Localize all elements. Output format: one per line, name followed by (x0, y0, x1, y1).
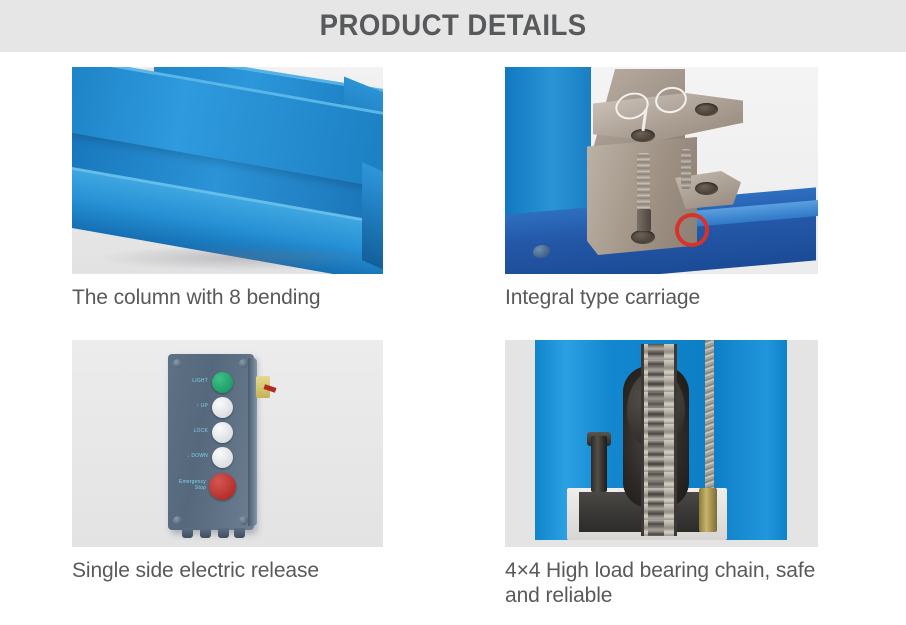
housing-screw-top-left (173, 359, 182, 368)
up-button[interactable] (212, 397, 233, 418)
anchor-bolt-stud (591, 436, 607, 492)
photo-left-margin (505, 340, 535, 547)
product-card-integral-type-carriage[interactable]: Integral type carriage (505, 67, 818, 310)
label-down: ↓ DOWN (172, 453, 208, 459)
housing-screw-bottom-left (173, 516, 182, 525)
page-title: PRODUCT DETAILS (319, 9, 586, 43)
photo-right-margin (788, 340, 818, 547)
photo-column-8-bending (72, 67, 383, 274)
photo-high-load-bearing-chain (505, 340, 818, 547)
caption-column-8-bending: The column with 8 bending (72, 285, 383, 310)
cable-gland-4 (234, 528, 245, 538)
steel-lifting-cable (705, 340, 714, 496)
housing-screw-top-right (239, 359, 248, 368)
lock-pin (637, 209, 651, 231)
label-lock: LOCK (172, 428, 208, 434)
cable-gland-3 (218, 528, 229, 538)
caption-high-load-bearing-chain: 4×4 High load bearing chain, safe and re… (505, 558, 818, 608)
photo-integral-type-carriage (505, 67, 818, 274)
product-card-single-side-electric-release[interactable]: LIGHT ↑ UP LOCK ↓ DOWN Emergency Stop Si… (72, 340, 383, 583)
carriage-hole-wing (695, 103, 718, 116)
product-details-grid: The column with 8 bending Integral type … (0, 52, 906, 625)
roller-chain-links (648, 344, 664, 536)
emergency-stop-button[interactable] (209, 473, 236, 500)
lock-button[interactable] (212, 422, 233, 443)
housing-screw-bottom-right (239, 516, 248, 525)
label-up: ↑ UP (172, 403, 208, 409)
cable-gland-1 (182, 528, 193, 538)
safety-lock-spring-front (637, 153, 650, 215)
carriage-hole-bottom (631, 230, 655, 244)
floor-shadow (96, 245, 376, 271)
down-button[interactable] (212, 447, 233, 468)
label-emergency-stop: Emergency Stop (170, 479, 206, 491)
label-light: LIGHT (172, 378, 208, 384)
cable-gland-2 (200, 528, 211, 538)
light-button[interactable] (212, 372, 233, 393)
safety-lock-spring-rear (681, 149, 691, 189)
product-card-high-load-bearing-chain[interactable]: 4×4 High load bearing chain, safe and re… (505, 340, 818, 608)
carriage-hole-ear (695, 182, 718, 195)
page-header-band: PRODUCT DETAILS (0, 0, 906, 52)
caption-integral-type-carriage: Integral type carriage (505, 285, 818, 310)
photo-single-side-electric-release: LIGHT ↑ UP LOCK ↓ DOWN Emergency Stop (72, 340, 383, 547)
product-card-column-8-bending[interactable]: The column with 8 bending (72, 67, 383, 310)
cable-ferrule (699, 488, 717, 532)
caption-single-side-electric-release: Single side electric release (72, 558, 383, 583)
